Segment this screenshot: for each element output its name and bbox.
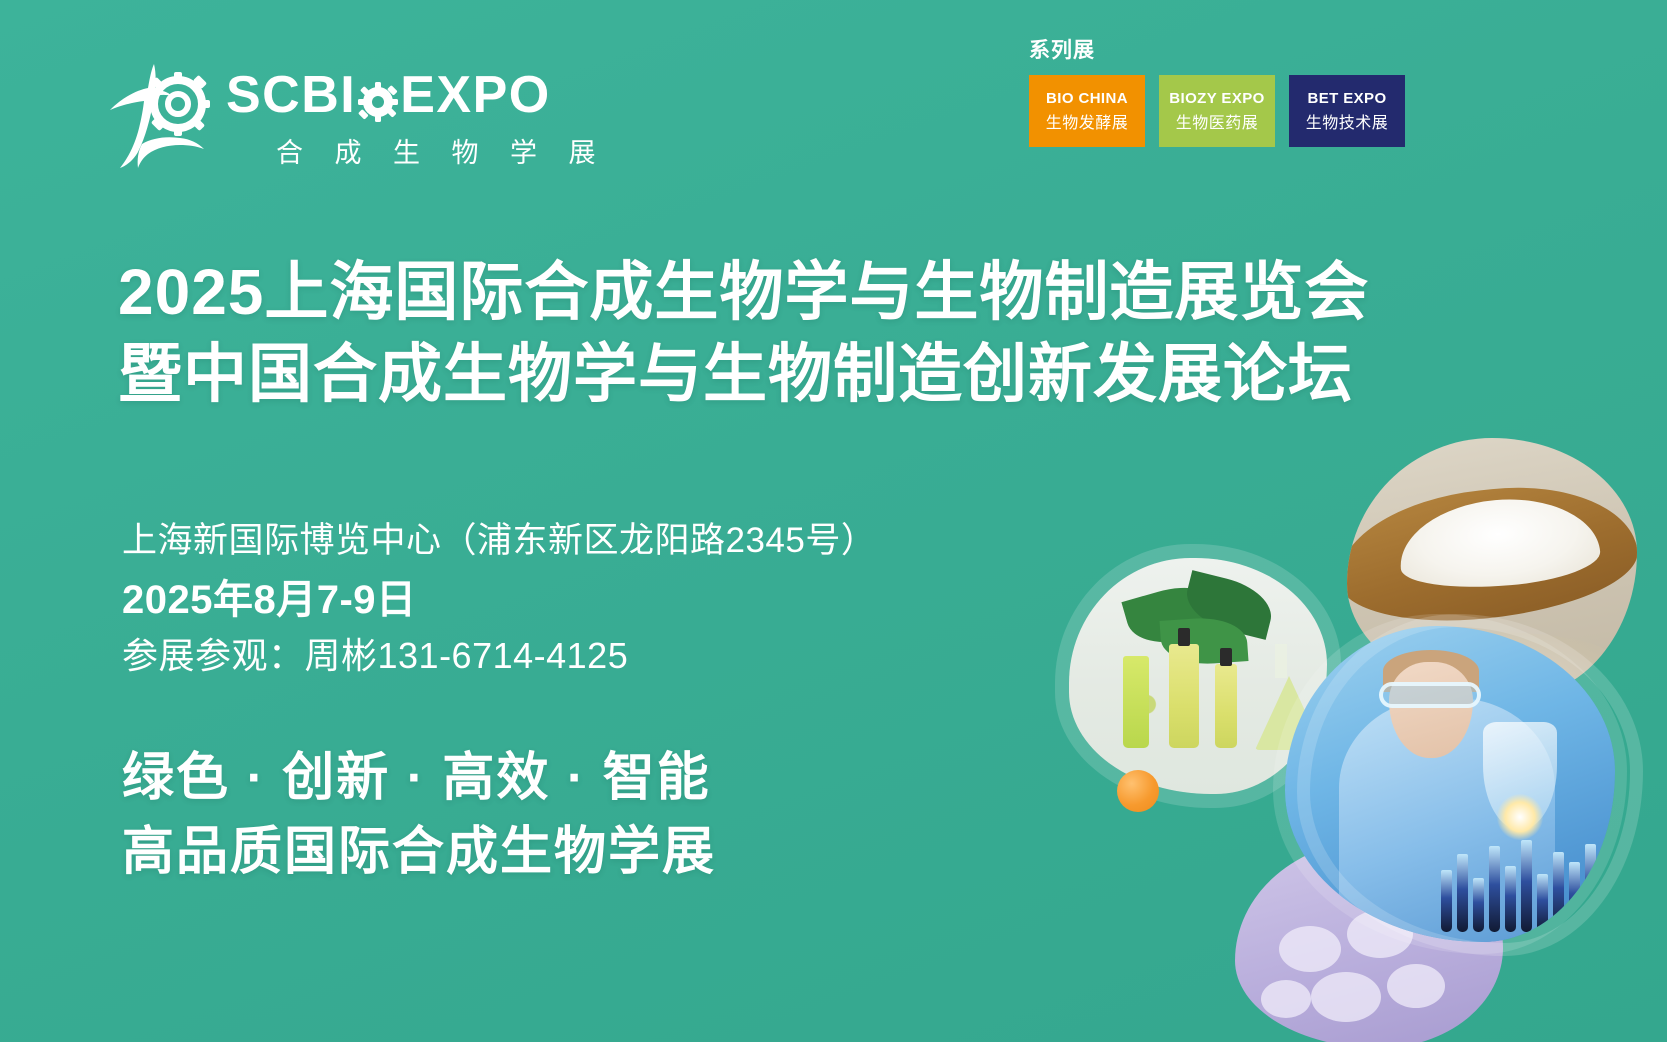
scbio-logo-mark	[104, 58, 212, 176]
event-venue: 上海新国际博览中心（浦东新区龙阳路2345号）	[122, 517, 876, 564]
series-badge-bet-expo[interactable]: BET EXPO 生物技术展	[1289, 75, 1405, 147]
brand-logo[interactable]: SCBI	[104, 58, 608, 176]
test-tube	[1457, 854, 1468, 932]
pill-shape	[1261, 980, 1311, 1018]
safety-goggles-icon	[1379, 682, 1481, 708]
event-contact: 参展参观：周彬131-6714-4125	[122, 632, 876, 681]
bottle-shape	[1123, 656, 1149, 748]
event-title-line-2: 暨中国合成生物学与生物制造创新发展论坛	[118, 334, 1369, 416]
test-tube	[1505, 866, 1516, 932]
logo-brand-text-1: SCBI	[226, 69, 356, 121]
logo-subtitle: 合 成 生 物 学 展	[226, 131, 608, 170]
test-tube-rack	[1441, 832, 1609, 932]
event-title-line-1: 2025上海国际合成生物学与生物制造展览会	[118, 252, 1369, 334]
test-tube	[1473, 878, 1484, 932]
test-tube	[1521, 840, 1532, 932]
slogan-line-2: 高品质国际合成生物学展	[122, 816, 716, 890]
series-badge-list: BIO CHINA 生物发酵展 BIOZY EXPO 生物医药展 BET EXP…	[1029, 75, 1405, 147]
bottle-shape	[1215, 664, 1237, 748]
series-badge-biozy-expo[interactable]: BIOZY EXPO 生物医药展	[1159, 75, 1275, 147]
event-info: 上海新国际博览中心（浦东新区龙阳路2345号） 2025年8月7-9日 参展参观…	[122, 517, 876, 681]
badge-en-label: BIO CHINA	[1046, 90, 1128, 107]
series-exhibitions: 系列展 BIO CHINA 生物发酵展 BIOZY EXPO 生物医药展 BET…	[1029, 34, 1405, 147]
flask-neck-shape	[1275, 644, 1287, 678]
pill-shape	[1279, 926, 1341, 972]
badge-en-label: BIOZY EXPO	[1169, 90, 1264, 107]
photo-collage	[1047, 430, 1667, 1042]
bottle-cap	[1220, 648, 1232, 666]
event-slogan: 绿色 · 创新 · 高效 · 智能 高品质国际合成生物学展	[122, 742, 716, 890]
logo-brand-text-2: EXPO	[400, 69, 551, 121]
test-tube	[1441, 870, 1452, 932]
badge-cn-label: 生物医药展	[1176, 109, 1259, 133]
logo-wordmark: SCBI	[226, 65, 608, 170]
gear-icon	[358, 79, 398, 119]
badge-en-label: BET EXPO	[1307, 90, 1386, 107]
badge-cn-label: 生物技术展	[1306, 109, 1389, 133]
bottle-cap	[1178, 628, 1190, 646]
event-date: 2025年8月7-9日	[122, 572, 876, 628]
pill-shape	[1311, 972, 1381, 1022]
slogan-line-1: 绿色 · 创新 · 高效 · 智能	[122, 742, 716, 816]
test-tube	[1489, 846, 1500, 932]
series-label: 系列展	[1029, 34, 1405, 64]
badge-cn-label: 生物发酵展	[1046, 109, 1129, 133]
test-tube	[1537, 874, 1548, 932]
bottle-shape	[1169, 644, 1199, 748]
test-tube	[1585, 844, 1596, 932]
pill-shape	[1387, 964, 1445, 1008]
test-tube	[1569, 862, 1580, 932]
test-tube	[1553, 852, 1564, 932]
promo-poster: SCBI	[0, 0, 1667, 1042]
series-badge-bio-china[interactable]: BIO CHINA 生物发酵展	[1029, 75, 1145, 147]
event-title: 2025上海国际合成生物学与生物制造展览会 暨中国合成生物学与生物制造创新发展论…	[118, 252, 1369, 416]
logo-calligraphy-icon	[104, 58, 212, 176]
orange-dot-decoration	[1117, 770, 1159, 812]
logo-brand-line: SCBI	[226, 69, 608, 121]
